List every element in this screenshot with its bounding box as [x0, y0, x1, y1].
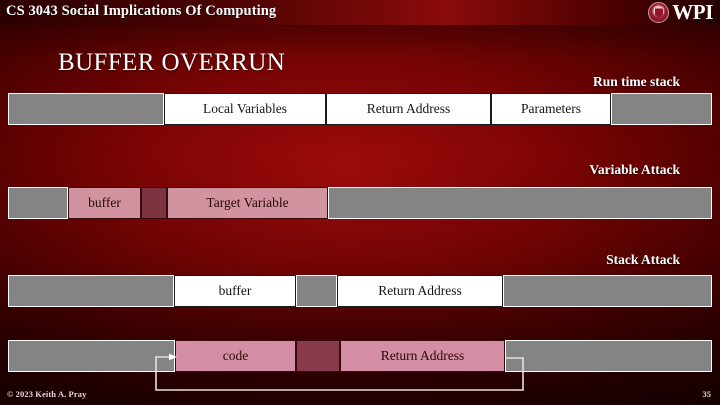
memory-cell-empty-left [8, 340, 175, 372]
memory-cell-return-address: Return Address [326, 93, 491, 125]
memory-cell-empty-right [611, 93, 712, 125]
copyright-notice: © 2023 Keith A. Pray [7, 389, 86, 399]
memory-cell-gap [141, 187, 167, 219]
memory-cell-return-address: Return Address [337, 275, 503, 307]
memory-cell-empty-right [503, 275, 712, 307]
slide-canvas: CS 3043 Social Implications Of Computing… [0, 0, 720, 405]
memory-row: bufferReturn Address [0, 275, 720, 307]
memory-row: Local VariablesReturn AddressParameters [0, 93, 720, 125]
memory-cell-gap [296, 340, 340, 372]
memory-cell-empty-left [8, 93, 164, 125]
slide-header-bar: CS 3043 Social Implications Of Computing… [0, 0, 720, 26]
memory-cell-parameters: Parameters [491, 93, 611, 125]
memory-cell-empty-right [505, 340, 712, 372]
memory-cell-buffer: buffer [174, 275, 296, 307]
memory-cell-empty-left [8, 187, 68, 219]
memory-cell-empty-left [8, 275, 174, 307]
memory-cell-target-variable: Target Variable [167, 187, 328, 219]
memory-cell-buffer: buffer [68, 187, 141, 219]
memory-cell-code: code [175, 340, 296, 372]
wpi-logo: WPI [648, 1, 713, 24]
memory-row: bufferTarget Variable [0, 187, 720, 219]
section-caption: Variable Attack [589, 162, 680, 178]
page-number: 35 [703, 389, 712, 399]
memory-cell-return-address: Return Address [340, 340, 505, 372]
course-title: CS 3043 Social Implications Of Computing [6, 3, 276, 20]
memory-cell-empty-right [328, 187, 712, 219]
wpi-seal-icon [648, 2, 669, 23]
section-caption: Run time stack [593, 74, 680, 90]
memory-cell-gap [296, 275, 337, 307]
page-title: BUFFER OVERRUN [58, 49, 285, 77]
memory-row: codeReturn Address [0, 340, 720, 372]
memory-cell-local-variables: Local Variables [164, 93, 326, 125]
section-caption: Stack Attack [606, 252, 680, 268]
wpi-logo-text: WPI [672, 2, 713, 23]
